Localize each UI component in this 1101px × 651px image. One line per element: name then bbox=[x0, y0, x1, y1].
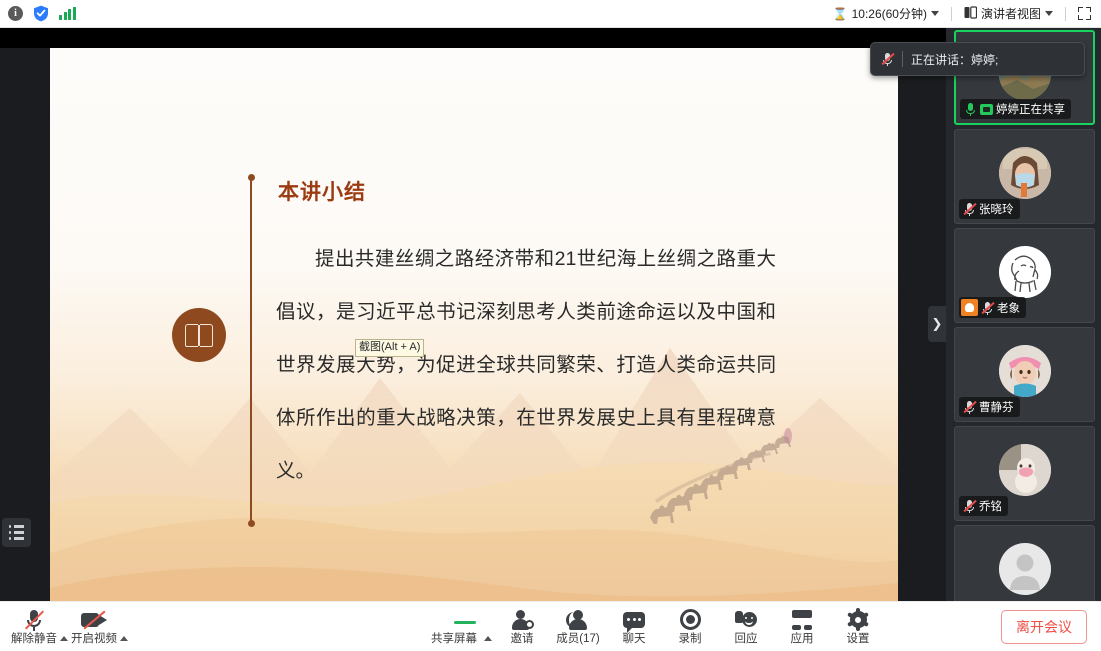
participant-name: 婷婷正在共享 bbox=[996, 101, 1065, 117]
leave-meeting-button[interactable]: 离开会议 bbox=[1001, 610, 1087, 644]
screen-share-icon bbox=[980, 104, 993, 115]
divider bbox=[1065, 7, 1066, 21]
invite-button[interactable]: 邀请 bbox=[496, 603, 548, 651]
invite-label: 邀请 bbox=[511, 633, 534, 646]
top-bar-right-controls: ⌛ 10:26(60分钟) 演讲者视图 bbox=[833, 5, 1101, 22]
divider bbox=[951, 7, 952, 21]
video-options-chevron-icon[interactable] bbox=[120, 636, 128, 641]
chat-label: 聊天 bbox=[623, 633, 646, 646]
view-mode-selector[interactable]: 演讲者视图 bbox=[964, 5, 1053, 22]
participant-list-toggle[interactable] bbox=[2, 518, 31, 547]
apps-label: 应用 bbox=[791, 633, 814, 646]
participant-tile[interactable]: 张晓玲 bbox=[954, 129, 1095, 224]
toolbar-center-group: 共享屏幕 邀请 成员(17) 聊天 bbox=[428, 603, 884, 651]
participant-name: 张晓玲 bbox=[979, 201, 1014, 217]
zoom-meeting-window: i ⌛ 10:26(60分钟) 演讲者视图 bbox=[0, 0, 1101, 651]
participant-tile[interactable]: 乔铭 bbox=[954, 426, 1095, 521]
audio-options-chevron-icon[interactable] bbox=[60, 636, 68, 641]
mute-toggle-label: 解除静音 bbox=[11, 633, 57, 646]
avatar bbox=[999, 345, 1051, 397]
settings-button[interactable]: 设置 bbox=[832, 603, 884, 651]
participant-name: 乔铭 bbox=[979, 498, 1002, 514]
participant-tile[interactable]: 老象 bbox=[954, 228, 1095, 323]
mic-muted-icon bbox=[24, 608, 44, 632]
reaction-label: 回应 bbox=[735, 633, 758, 646]
record-label: 录制 bbox=[679, 633, 702, 646]
video-toggle-button[interactable]: 开启视频 bbox=[68, 603, 120, 651]
mic-muted-icon bbox=[963, 202, 976, 216]
participant-name-badge: 乔铭 bbox=[959, 496, 1008, 516]
invite-person-icon bbox=[511, 608, 533, 632]
active-speaker-toast: 正在讲话：婷婷; bbox=[870, 42, 1085, 76]
network-signal-icon[interactable] bbox=[59, 7, 76, 20]
top-bar: i ⌛ 10:26(60分钟) 演讲者视图 bbox=[0, 0, 1101, 28]
participants-icon bbox=[566, 608, 590, 632]
slide-body-text: 提出共建丝绸之路经济带和21世纪海上丝绸之路重大倡议，是习近平总书记深刻思考人类… bbox=[276, 233, 776, 498]
info-icon[interactable]: i bbox=[8, 6, 23, 21]
settings-label: 设置 bbox=[847, 633, 870, 646]
layout-icon bbox=[964, 6, 977, 22]
avatar bbox=[999, 543, 1051, 595]
shared-screen-stage: 本讲小结 提出共建丝绸之路经济带和21世纪海上丝绸之路重大倡议，是习近平总书记深… bbox=[0, 28, 946, 601]
avatar bbox=[999, 246, 1051, 298]
chat-button[interactable]: 聊天 bbox=[608, 603, 660, 651]
slide-title: 本讲小结 bbox=[278, 176, 366, 206]
stage-top-letterbox bbox=[0, 28, 946, 48]
collapse-panel-button[interactable]: ❯ bbox=[928, 306, 946, 342]
participants-filmstrip[interactable]: 婷婷正在共享 张晓玲 bbox=[946, 28, 1101, 601]
mic-muted-icon bbox=[963, 499, 976, 513]
share-screen-label: 共享屏幕 bbox=[431, 633, 477, 646]
mic-muted-icon bbox=[881, 52, 894, 66]
security-shield-icon[interactable] bbox=[33, 5, 49, 22]
divider bbox=[902, 51, 903, 67]
participant-name-badge: 婷婷正在共享 bbox=[960, 99, 1071, 119]
participants-label: 成员(17) bbox=[556, 633, 599, 646]
avatar bbox=[999, 444, 1051, 496]
participant-name-badge: 张晓玲 bbox=[959, 199, 1020, 219]
record-icon bbox=[680, 608, 701, 632]
participant-name: 曹静芬 bbox=[979, 399, 1014, 415]
camera-off-icon bbox=[81, 608, 107, 632]
participants-button[interactable]: 成员(17) bbox=[552, 603, 604, 651]
participant-name: 老象 bbox=[997, 300, 1020, 316]
mute-toggle-button[interactable]: 解除静音 bbox=[8, 603, 60, 651]
active-speaker-text: 正在讲话：婷婷; bbox=[911, 51, 998, 68]
mic-on-icon bbox=[964, 102, 977, 116]
shared-slide: 本讲小结 提出共建丝绸之路经济带和21世纪海上丝绸之路重大倡议，是习近平总书记深… bbox=[50, 48, 898, 601]
host-icon bbox=[961, 299, 978, 316]
share-screen-button[interactable]: 共享屏幕 bbox=[428, 603, 480, 651]
open-book-icon bbox=[172, 308, 226, 362]
slide-accent-rail bbox=[250, 178, 252, 523]
participant-tile[interactable]: 曹静芬 bbox=[954, 327, 1095, 422]
toolbar-left-group: 解除静音 开启视频 bbox=[0, 603, 128, 651]
mic-muted-icon bbox=[981, 301, 994, 315]
record-button[interactable]: 录制 bbox=[664, 603, 716, 651]
share-options-chevron-icon[interactable] bbox=[484, 636, 492, 641]
participant-name-badge: 老象 bbox=[959, 297, 1026, 318]
top-bar-left-icons: i bbox=[0, 5, 76, 22]
snip-tooltip: 截图(Alt + A) bbox=[355, 339, 424, 357]
chevron-down-icon[interactable] bbox=[1045, 11, 1053, 16]
view-mode-label: 演讲者视图 bbox=[981, 5, 1041, 22]
bottom-toolbar: 解除静音 开启视频 共享屏幕 bbox=[0, 601, 1101, 651]
reaction-icon bbox=[735, 608, 757, 632]
avatar bbox=[999, 147, 1051, 199]
participant-name-badge: 曹静芬 bbox=[959, 397, 1020, 417]
apps-grid-icon bbox=[792, 608, 812, 632]
video-toggle-label: 开启视频 bbox=[71, 633, 117, 646]
chat-bubble-icon bbox=[623, 608, 645, 632]
list-icon bbox=[9, 525, 25, 540]
mic-muted-icon bbox=[963, 400, 976, 414]
participant-tile[interactable] bbox=[954, 525, 1095, 601]
meeting-timer-label: 10:26(60分钟) bbox=[852, 5, 927, 22]
chevron-down-icon[interactable] bbox=[931, 11, 939, 16]
settings-gear-icon bbox=[848, 608, 869, 632]
hourglass-icon: ⌛ bbox=[833, 7, 848, 21]
reaction-button[interactable]: 回应 bbox=[720, 603, 772, 651]
meeting-timer[interactable]: ⌛ 10:26(60分钟) bbox=[833, 5, 939, 22]
apps-button[interactable]: 应用 bbox=[776, 603, 828, 651]
fullscreen-icon[interactable] bbox=[1078, 7, 1091, 20]
